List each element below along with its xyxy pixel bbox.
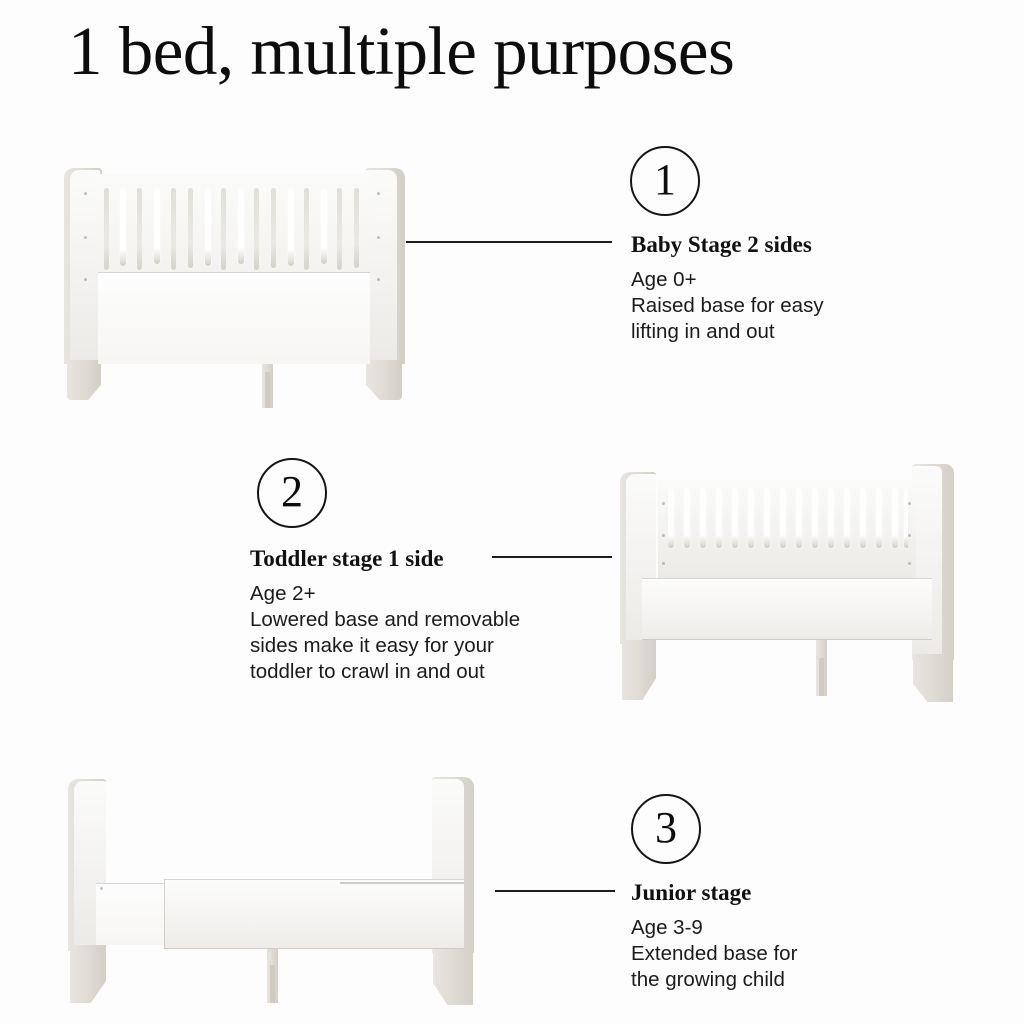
junior-rail-top-seam: [164, 879, 464, 880]
junior-stage-bed-illustration: [60, 775, 490, 1005]
baby-stage-crib-illustration: [62, 160, 407, 400]
toddler-right-leg: [913, 654, 953, 702]
stage-number-badge-3: 3: [631, 794, 701, 864]
crib-left-leg: [67, 360, 101, 400]
stage-number-2: 2: [281, 470, 303, 514]
toddler-left-leg: [622, 640, 656, 700]
toddler-slat-group: [668, 488, 908, 550]
stage-body-2: Age 2+ Lowered base and removable sides …: [250, 581, 595, 685]
crib-slat-group: [102, 188, 366, 272]
page-title: 1 bed, multiple purposes: [68, 14, 734, 88]
crib-head-panel-lower: [98, 272, 370, 364]
callout-stage-2: 2 Toddler stage 1 side Age 2+ Lowered ba…: [250, 458, 610, 688]
crib-right-leg: [366, 360, 402, 400]
toddler-front-rail-top-seam: [642, 578, 932, 579]
stage-number-badge-2: 2: [257, 458, 327, 528]
callout-stage-3: 3 Junior stage Age 3-9 Extended base for…: [628, 794, 988, 994]
toddler-front-rail-bottom-seam: [642, 639, 932, 640]
toddler-front-rail: [642, 578, 932, 640]
stage-body-1: Age 0+ Raised base for easy lifting in a…: [631, 267, 961, 345]
junior-left-leg: [70, 945, 106, 1003]
infographic-page: 1 bed, multiple purposes: [0, 0, 1024, 1024]
leader-line-1: [406, 241, 612, 243]
crib-head-panel-seam: [98, 272, 370, 273]
stage-heading-2: Toddler stage 1 side: [250, 546, 444, 572]
stage-number-3: 3: [655, 806, 677, 850]
callout-stage-1: 1 Baby Stage 2 sides Age 0+ Raised base …: [628, 146, 988, 346]
junior-rail-overlap-seam: [164, 879, 165, 949]
junior-center-leg-shadow: [270, 965, 275, 1003]
junior-rail-slide-seam: [340, 882, 464, 884]
crib-center-leg-shadow: [265, 372, 270, 408]
toddler-stage-bed-illustration: [616, 462, 966, 700]
stage-heading-1: Baby Stage 2 sides: [631, 232, 812, 258]
junior-extended-rail: [164, 879, 464, 949]
stage-body-3: Age 3-9 Extended base for the growing ch…: [631, 915, 961, 993]
junior-right-leg: [433, 947, 473, 1005]
stage-number-1: 1: [654, 158, 676, 202]
crib-left-post-face: [70, 170, 100, 364]
leader-line-3: [495, 890, 615, 892]
stage-number-badge-1: 1: [630, 146, 700, 216]
junior-rail-bottom-seam: [164, 948, 464, 949]
toddler-center-leg-shadow: [819, 658, 824, 696]
stage-heading-3: Junior stage: [631, 880, 751, 906]
